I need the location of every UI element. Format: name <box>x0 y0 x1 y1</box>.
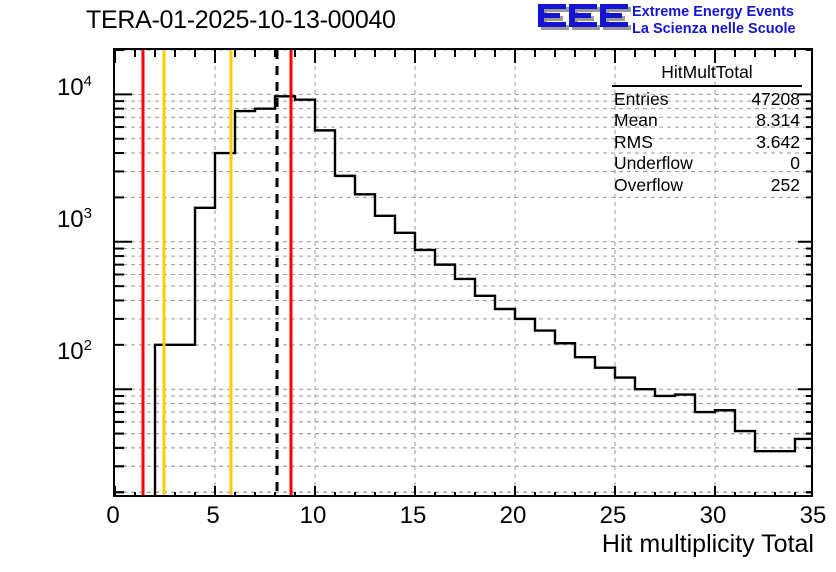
stats-title: HitMultTotal <box>612 62 802 85</box>
stats-rows: Entries47208Mean8.314RMS3.642Underflow0O… <box>612 89 802 197</box>
stats-row-value: 3.642 <box>756 132 800 154</box>
x-tick-label-20: 20 <box>483 502 543 530</box>
x-tick-label-0: 0 <box>83 502 143 530</box>
stats-row-key: Entries <box>614 89 668 111</box>
stats-row-key: RMS <box>614 132 653 154</box>
stats-row-key: Mean <box>614 110 658 132</box>
stats-rule <box>612 85 802 87</box>
page-title: TERA-01-2025-10-13-00040 <box>86 6 396 35</box>
eee-mark-icon <box>536 3 632 37</box>
x-tick-label-35: 35 <box>783 502 836 530</box>
stats-box: HitMultTotal Entries47208Mean8.314RMS3.6… <box>612 62 802 196</box>
y-tick-label-1e3: 103 <box>24 205 92 234</box>
eee-logo-line1: Extreme Energy Events <box>632 4 796 21</box>
x-tick-label-5: 5 <box>183 502 243 530</box>
y-tick-label-1e2: 102 <box>24 337 92 366</box>
stats-row: Entries47208 <box>612 89 802 111</box>
x-tick-label-25: 25 <box>583 502 643 530</box>
eee-logo-line2: La Scienza nelle Scuole <box>632 21 796 38</box>
eee-logo-text: Extreme Energy Events La Scienza nelle S… <box>632 4 796 38</box>
x-tick-label-10: 10 <box>283 502 343 530</box>
stats-row-value: 47208 <box>751 89 800 111</box>
stats-row-value: 0 <box>790 153 800 175</box>
stats-row-value: 8.314 <box>756 110 800 132</box>
eee-logo: Extreme Energy Events La Scienza nelle S… <box>536 2 832 42</box>
root-canvas: TERA-01-2025-10-13-00040 <box>0 0 836 572</box>
stats-row-key: Underflow <box>614 153 693 175</box>
stats-row: Mean8.314 <box>612 110 802 132</box>
x-tick-label-15: 15 <box>383 502 443 530</box>
stats-row-key: Overflow <box>614 175 683 197</box>
y-tick-label-1e4: 104 <box>24 73 92 102</box>
stats-row: Underflow0 <box>612 153 802 175</box>
stats-row: RMS3.642 <box>612 132 802 154</box>
x-tick-label-30: 30 <box>683 502 743 530</box>
stats-row-value: 252 <box>771 175 800 197</box>
x-axis-label: Hit multiplicity Total <box>602 530 814 559</box>
stats-row: Overflow252 <box>612 175 802 197</box>
